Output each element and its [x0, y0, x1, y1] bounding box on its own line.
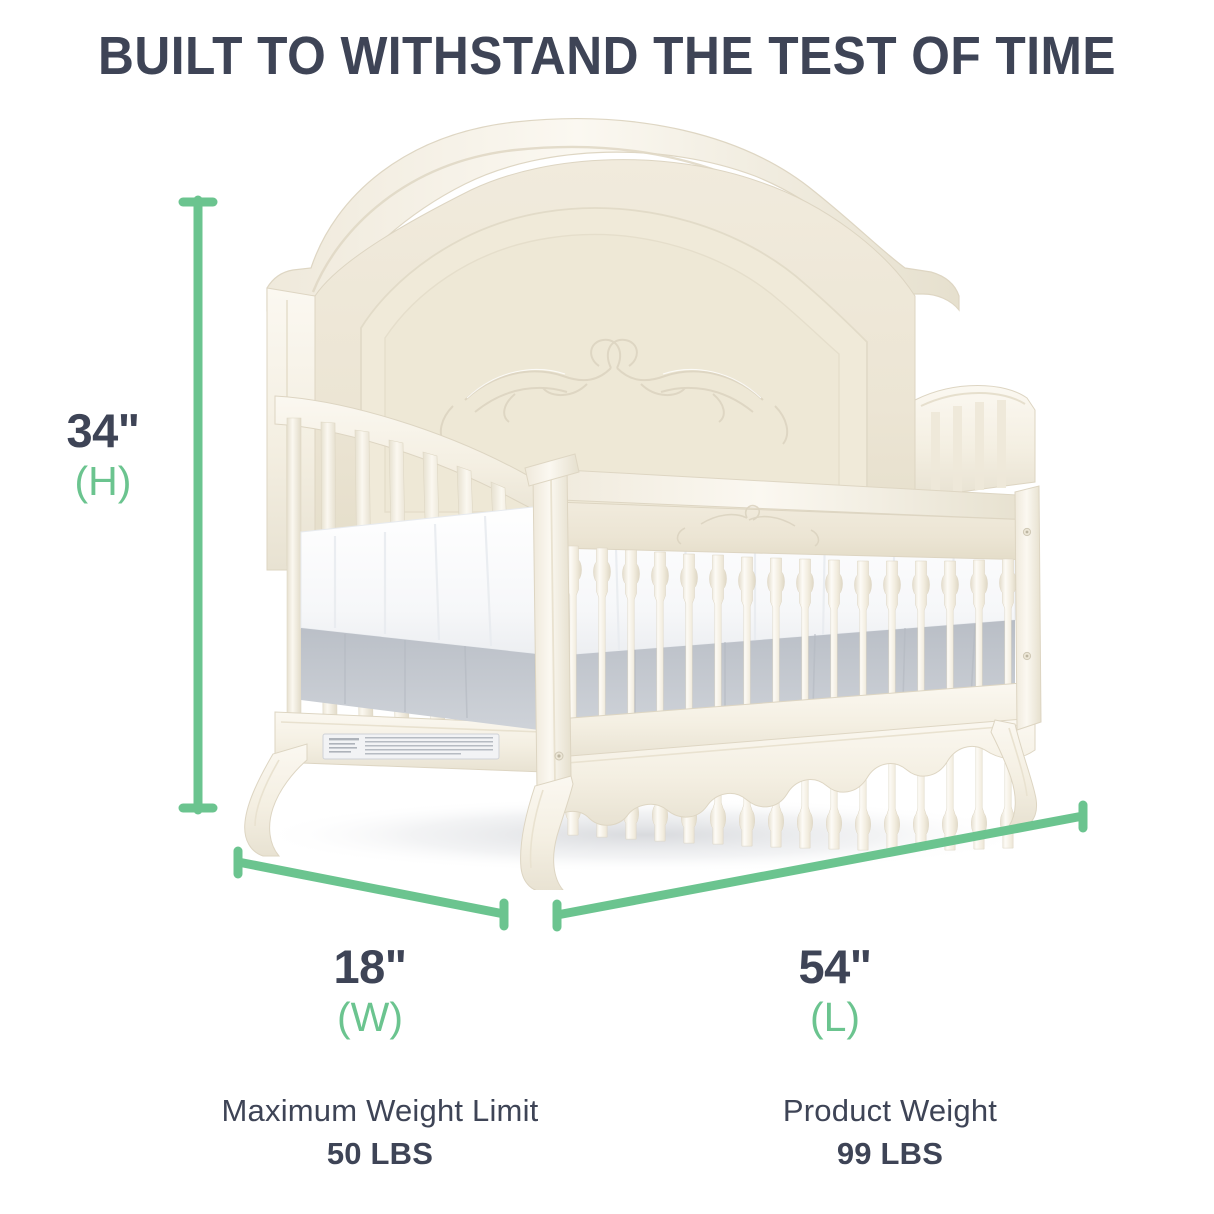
dimension-axis-length: (L)	[700, 996, 970, 1039]
spec-maximum-weight-limit: Maximum Weight Limit 50 LBS	[140, 1093, 620, 1172]
dimension-label-height: 34" (H)	[8, 406, 198, 503]
spec-title-maximum-weight-limit: Maximum Weight Limit	[140, 1093, 620, 1129]
dimension-value-length: 54"	[700, 942, 970, 992]
dimension-label-width: 18" (W)	[235, 942, 505, 1039]
warning-label-sticker	[323, 734, 499, 759]
product-image-crib	[215, 100, 1045, 890]
infographic-canvas: BUILT TO WITHSTAND THE TEST OF TIME	[0, 0, 1214, 1214]
spec-product-weight: Product Weight 99 LBS	[650, 1093, 1130, 1172]
spec-title-product-weight: Product Weight	[650, 1093, 1130, 1129]
spec-value-maximum-weight-limit: 50 LBS	[140, 1136, 620, 1172]
dimension-value-height: 34"	[8, 406, 198, 456]
dimension-axis-height: (H)	[8, 460, 198, 503]
dimension-line-height	[183, 200, 213, 810]
dimension-axis-width: (W)	[235, 996, 505, 1039]
spec-value-product-weight: 99 LBS	[650, 1136, 1130, 1172]
page-title: BUILT TO WITHSTAND THE TEST OF TIME	[49, 28, 1166, 85]
dimension-label-length: 54" (L)	[700, 942, 970, 1039]
dimension-value-width: 18"	[235, 942, 505, 992]
